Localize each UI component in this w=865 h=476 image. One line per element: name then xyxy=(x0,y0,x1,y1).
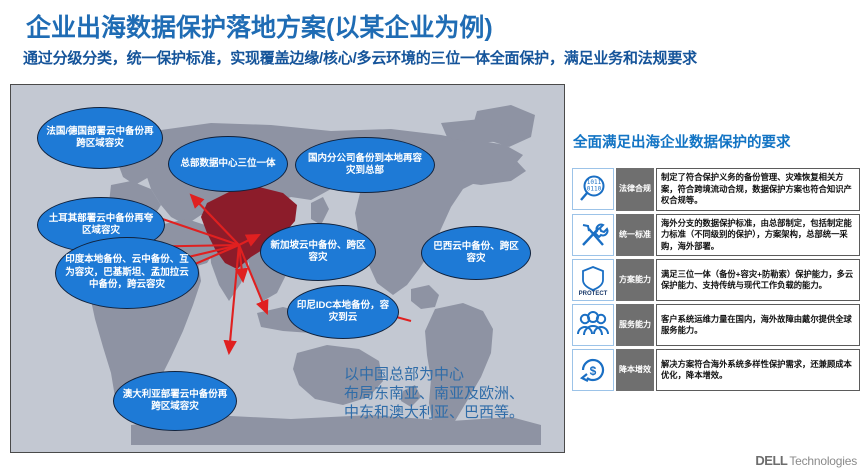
dell-wordmark: DELL xyxy=(755,453,787,468)
row-description: 满足三位一体（备份+容灾+防勒索）保护能力，多云保护能力、支持传统与现代工作负载… xyxy=(656,259,860,301)
tools-wrench-screwdriver-icon xyxy=(572,214,614,256)
row-label: 降本增效 xyxy=(616,349,654,391)
map-summary-note: 以中国总部为中心 布局东南亚、南亚及欧洲、 中东和澳大利亚、巴西等。 xyxy=(344,365,524,422)
map-bubble-singapore[interactable]: 新加坡云中备份、跨区容灾 xyxy=(260,223,376,281)
dell-technologies-suffix: Technologies xyxy=(789,454,857,468)
row-description: 客户系统运维力量在国内，海外故障由戴尔提供全球服务能力。 xyxy=(656,304,860,346)
svg-text:$: $ xyxy=(590,364,597,378)
map-bubble-india[interactable]: 印度本地备份、云中备份、互为容灾，巴基斯坦、孟加拉云中备份，跨云容灾 xyxy=(55,237,199,309)
row-label: 方案能力 xyxy=(616,259,654,301)
binary-magnifier-icon: 1011 0110 xyxy=(572,168,614,210)
row-description: 制定了符合保护义务的备份管理、灾难恢复相关方案，符合跨境流动合规，数据保护方案也… xyxy=(656,168,860,211)
requirements-table: 1011 0110 法律合规 制定了符合保护义务的备份管理、灾难恢复相关方案，符… xyxy=(572,168,860,394)
map-bubble-domestic-branch[interactable]: 国内分公司备份到本地再容灾到总部 xyxy=(295,137,435,193)
row-description: 解决方案符合海外系统多样性保护需求，还兼顾成本优化，降本增效。 xyxy=(656,349,860,391)
slide-root: 企业出海数据保护落地方案(以某企业为例) 通过分级分类，统一保护标准，实现覆盖边… xyxy=(0,0,865,476)
map-bubble-hq-datacenter[interactable]: 总部数据中心三位一体 xyxy=(168,136,288,192)
map-bubble-france-germany[interactable]: 法国/德国部署云中备份再跨区域容灾 xyxy=(37,107,163,169)
table-row: $ 降本增效 解决方案符合海外系统多样性保护需求，还兼顾成本优化，降本增效。 xyxy=(572,349,860,391)
row-label: 法律合规 xyxy=(616,168,654,211)
row-description: 海外分支的数据保护标准，由总部制定，包括制定能力标准（不同级别的保护），方案架构… xyxy=(656,214,860,257)
people-group-icon xyxy=(572,304,614,346)
table-row: 服务能力 客户系统运维力量在国内，海外故障由戴尔提供全球服务能力。 xyxy=(572,304,860,346)
page-title: 企业出海数据保护落地方案(以某企业为例) xyxy=(26,8,493,44)
row-label: 统一标准 xyxy=(616,214,654,257)
map-bubble-australia[interactable]: 澳大利亚部署云中备份再跨区域容灾 xyxy=(113,371,237,431)
dell-technologies-logo: DELL Technologies xyxy=(755,453,857,468)
row-label: 服务能力 xyxy=(616,304,654,346)
requirements-heading: 全面满足出海企业数据保护的要求 xyxy=(573,131,791,152)
map-bubble-brazil[interactable]: 巴西云中备份、跨区容灾 xyxy=(421,226,531,280)
shield-protect-icon: PROTECT xyxy=(572,259,614,301)
table-row: 统一标准 海外分支的数据保护标准，由总部制定，包括制定能力标准（不同级别的保护）… xyxy=(572,214,860,257)
dollar-refresh-icon: $ xyxy=(572,349,614,391)
page-subtitle: 通过分级分类，统一保护标准，实现覆盖边缘/核心/多云环境的三位一体全面保护，满足… xyxy=(23,47,697,68)
svg-text:0110: 0110 xyxy=(587,186,602,193)
svg-text:PROTECT: PROTECT xyxy=(579,291,608,296)
table-row: PROTECT 方案能力 满足三位一体（备份+容灾+防勒索）保护能力，多云保护能… xyxy=(572,259,860,301)
map-bubble-indonesia[interactable]: 印尼IDC本地备份，容灾到云 xyxy=(287,285,399,339)
table-row: 1011 0110 法律合规 制定了符合保护义务的备份管理、灾难恢复相关方案，符… xyxy=(572,168,860,211)
